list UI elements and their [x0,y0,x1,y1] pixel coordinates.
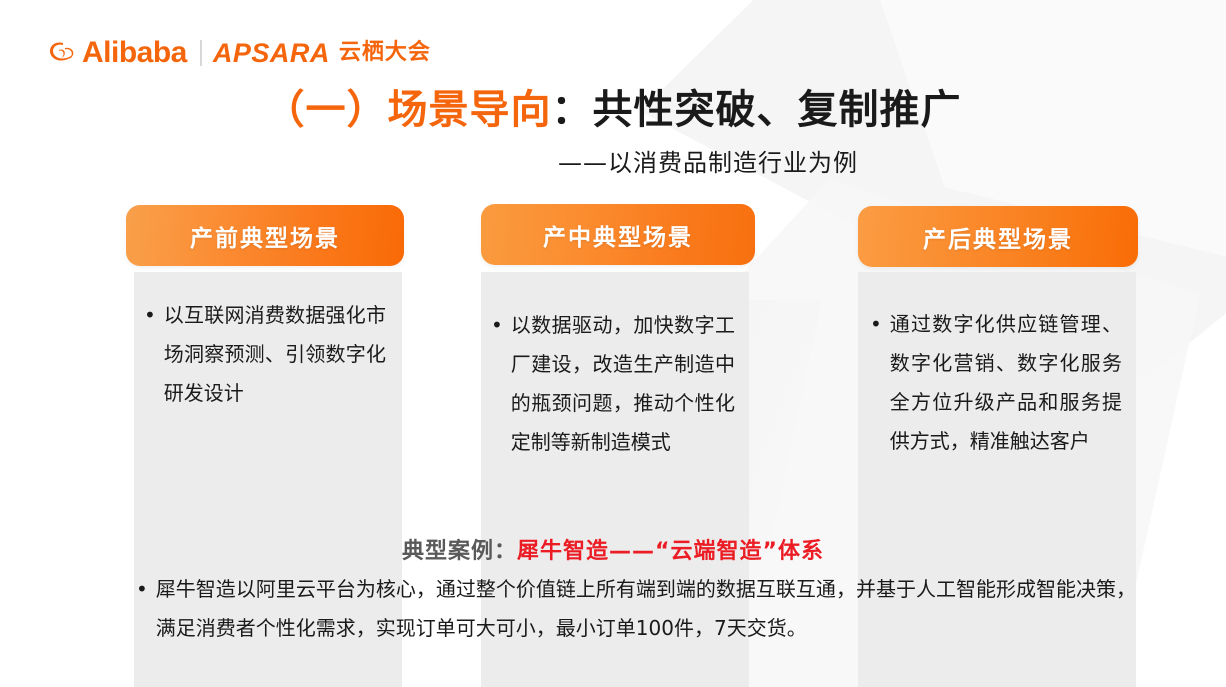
case-study-value: 犀牛智造——“云端智造”体系 [517,539,824,564]
card-bullet: • 以数据驱动，加快数字工厂建设，改造生产制造中的瓶颈问题，推动个性化定制等新制… [491,306,735,462]
card-bullet: • 以互联网消费数据强化市场洞察预测、引领数字化研发设计 [144,296,386,413]
apsara-wordmark: APSARA [213,40,330,67]
case-study-heading: 典型案例：犀牛智造——“云端智造”体系 [0,533,1226,565]
brand-separator [200,40,202,66]
card-body-text: 通过数字化供应链管理、数字化营销、数字化服务全方位升级产品和服务提供方式，精准触… [890,305,1122,461]
bullet-marker-icon: • [144,296,156,335]
case-study-paragraph: • 犀牛智造以阿里云平台为核心，通过整个价值链上所有端到端的数据互联互通，并基于… [136,570,1136,648]
card-header-label: 产中典型场景 [543,218,693,252]
apsara-chinese-name: 云栖大会 [339,42,431,64]
alibaba-logo-icon [48,40,78,66]
card-header-in-production: 产中典型场景 [481,204,755,265]
slide-canvas: Alibaba APSARA 云栖大会 （一）场景导向：共性突破、复制推广 ——… [0,0,1226,687]
bullet-marker-icon: • [870,305,882,344]
card-body-text: 以数据驱动，加快数字工厂建设，改造生产制造中的瓶颈问题，推动个性化定制等新制造模… [511,306,735,462]
card-header-label: 产后典型场景 [923,220,1073,254]
card-header-label: 产前典型场景 [190,219,340,253]
card-header-pre-production: 产前典型场景 [126,205,404,266]
card-body-text: 以互联网消费数据强化市场洞察预测、引领数字化研发设计 [164,296,386,413]
card-header-post-production: 产后典型场景 [858,206,1138,267]
bullet-marker-icon: • [491,306,503,345]
brand-wordmark: Alibaba [82,38,187,68]
brand-logo-bar: Alibaba APSARA 云栖大会 [48,36,431,70]
bullet-marker-icon: • [136,570,148,609]
case-study-paragraph-text: 犀牛智造以阿里云平台为核心，通过整个价值链上所有端到端的数据互联互通，并基于人工… [156,570,1136,648]
card-bullet: • 通过数字化供应链管理、数字化营销、数字化服务全方位升级产品和服务提供方式，精… [870,305,1122,461]
case-study-label: 典型案例： [402,539,517,564]
